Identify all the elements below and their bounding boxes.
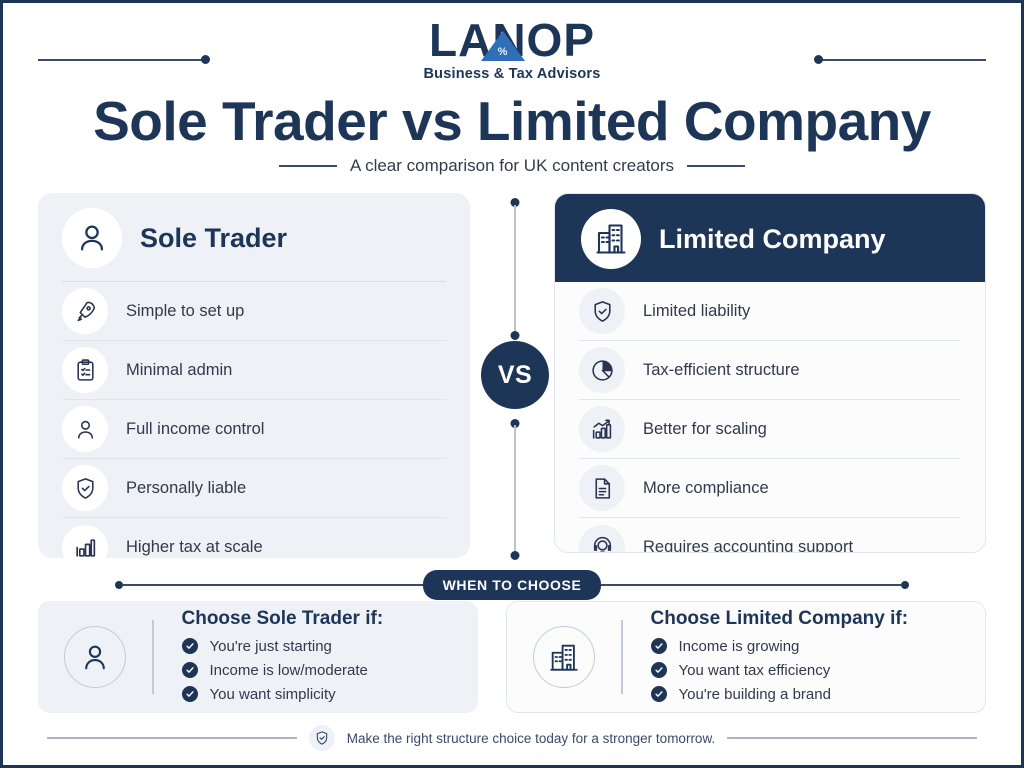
list-item: You're just starting bbox=[182, 634, 384, 658]
subtitle-line-left bbox=[279, 165, 337, 167]
shield-check-icon bbox=[309, 725, 335, 751]
vs-dot-above-badge bbox=[511, 331, 520, 340]
clipboard-check-icon bbox=[62, 347, 108, 393]
vs-badge: VS bbox=[481, 341, 549, 409]
list-item-label: You're building a brand bbox=[679, 686, 831, 703]
pie-chart-icon bbox=[579, 347, 625, 393]
check-icon bbox=[182, 662, 198, 678]
page-subtitle: A clear comparison for UK content creato… bbox=[350, 156, 674, 176]
list-item-label: Simple to set up bbox=[126, 302, 244, 321]
list-item-label: Personally liable bbox=[126, 479, 246, 498]
card-header-limited-company: Limited Company bbox=[555, 194, 985, 282]
document-icon bbox=[579, 465, 625, 511]
check-icon bbox=[182, 638, 198, 654]
list-item: Tax-efficient structure bbox=[579, 341, 961, 400]
list-item: More compliance bbox=[579, 459, 961, 518]
logo-letter-l: L bbox=[429, 14, 458, 66]
card-sole-trader: Sole Trader Simple to set up bbox=[38, 193, 470, 558]
list-item: Simple to set up bbox=[62, 282, 446, 341]
list-item-label: Income is low/moderate bbox=[210, 662, 368, 679]
building-icon bbox=[581, 209, 641, 269]
growth-chart-icon bbox=[579, 406, 625, 452]
list-item-label: Higher tax at scale bbox=[126, 538, 263, 557]
logo-tagline: Business & Tax Advisors bbox=[382, 66, 642, 82]
list-item-label: Full income control bbox=[126, 420, 264, 439]
divider-dot-left bbox=[115, 581, 123, 589]
logo-percent-icon: % bbox=[493, 47, 513, 58]
list-item: Better for scaling bbox=[579, 400, 961, 459]
infographic-page: LANOP % Business & Tax Advisors Sole Tra… bbox=[0, 0, 1024, 768]
when-to-choose-divider: WHEN TO CHOOSE bbox=[3, 571, 1021, 599]
panel-choose-sole-trader: Choose Sole Trader if: You're just start… bbox=[38, 601, 478, 713]
footer-text: Make the right structure choice today fo… bbox=[347, 731, 715, 746]
bar-chart-icon bbox=[62, 525, 108, 559]
list-item-label: Requires accounting support bbox=[643, 538, 853, 553]
list-item-label: Income is growing bbox=[679, 638, 800, 655]
panel-divider bbox=[152, 620, 154, 694]
check-icon bbox=[651, 662, 667, 678]
top-band: LANOP % Business & Tax Advisors bbox=[3, 11, 1021, 87]
list-item: Income is growing bbox=[651, 634, 909, 658]
list-item-label: You want simplicity bbox=[210, 686, 336, 703]
panel-title-sole-trader: Choose Sole Trader if: bbox=[182, 608, 384, 630]
panel-title-limited-company: Choose Limited Company if: bbox=[651, 608, 909, 630]
list-item: Minimal admin bbox=[62, 341, 446, 400]
list-item-label: You want tax efficiency bbox=[679, 662, 831, 679]
list-item-label: Limited liability bbox=[643, 302, 750, 321]
divider-dot-right bbox=[901, 581, 909, 589]
check-icon bbox=[182, 686, 198, 702]
decorative-rule-left bbox=[38, 59, 208, 61]
card-title-limited-company: Limited Company bbox=[659, 224, 886, 255]
list-item: Requires accounting support bbox=[579, 518, 961, 553]
person-icon bbox=[62, 208, 122, 268]
subtitle-row: A clear comparison for UK content creato… bbox=[3, 156, 1021, 176]
panel-divider bbox=[621, 620, 623, 694]
feature-list-sole-trader: Simple to set up Minimal admin bbox=[38, 282, 470, 558]
list-item-label: Better for scaling bbox=[643, 420, 767, 439]
list-item: You're building a brand bbox=[651, 682, 909, 706]
decorative-dot-left bbox=[201, 55, 210, 64]
divider-line-right bbox=[601, 584, 901, 586]
card-title-sole-trader: Sole Trader bbox=[140, 223, 287, 254]
divider-line-left bbox=[123, 584, 423, 586]
vs-connector: VS bbox=[480, 193, 550, 565]
panel-choose-limited-company: Choose Limited Company if: Income is gro… bbox=[506, 601, 986, 713]
feature-list-limited-company: Limited liability Tax-efficient structur… bbox=[555, 282, 985, 553]
list-item: Higher tax at scale bbox=[62, 518, 446, 558]
when-to-choose-panels: Choose Sole Trader if: You're just start… bbox=[3, 601, 1021, 713]
list-item: Income is low/moderate bbox=[182, 658, 384, 682]
shield-check-icon bbox=[62, 465, 108, 511]
page-title: Sole Trader vs Limited Company bbox=[3, 91, 1021, 152]
list-item: Full income control bbox=[62, 400, 446, 459]
rocket-icon bbox=[62, 288, 108, 334]
shield-check-icon bbox=[579, 288, 625, 334]
list-item-label: You're just starting bbox=[210, 638, 332, 655]
person-icon bbox=[62, 406, 108, 452]
footer-line-left bbox=[47, 737, 297, 739]
decorative-rule-right bbox=[816, 59, 986, 61]
vs-dot-bottom bbox=[511, 551, 520, 560]
decorative-dot-right bbox=[814, 55, 823, 64]
list-item-label: More compliance bbox=[643, 479, 769, 498]
footer: Make the right structure choice today fo… bbox=[3, 725, 1021, 751]
when-to-choose-badge: WHEN TO CHOOSE bbox=[423, 570, 602, 600]
list-item-label: Tax-efficient structure bbox=[643, 361, 800, 380]
logo-wordmark: LANOP % bbox=[429, 17, 595, 63]
vs-line-bottom bbox=[514, 425, 516, 553]
panel-body-limited-company: Choose Limited Company if: Income is gro… bbox=[637, 608, 909, 706]
list-item: You want simplicity bbox=[182, 682, 384, 706]
panel-body-sole-trader: Choose Sole Trader if: You're just start… bbox=[168, 608, 384, 706]
person-icon bbox=[64, 626, 126, 688]
building-icon bbox=[533, 626, 595, 688]
list-item: You want tax efficiency bbox=[651, 658, 909, 682]
card-header-sole-trader: Sole Trader bbox=[38, 193, 470, 281]
footer-line-right bbox=[727, 737, 977, 739]
vs-line-top bbox=[514, 205, 516, 333]
check-icon bbox=[651, 686, 667, 702]
list-item: Limited liability bbox=[579, 282, 961, 341]
card-limited-company: Limited Company Limited liability bbox=[554, 193, 986, 553]
headset-support-icon bbox=[579, 525, 625, 554]
check-icon bbox=[651, 638, 667, 654]
list-item: Personally liable bbox=[62, 459, 446, 518]
subtitle-line-right bbox=[687, 165, 745, 167]
lanop-logo: LANOP % Business & Tax Advisors bbox=[382, 17, 642, 82]
list-item-label: Minimal admin bbox=[126, 361, 232, 380]
